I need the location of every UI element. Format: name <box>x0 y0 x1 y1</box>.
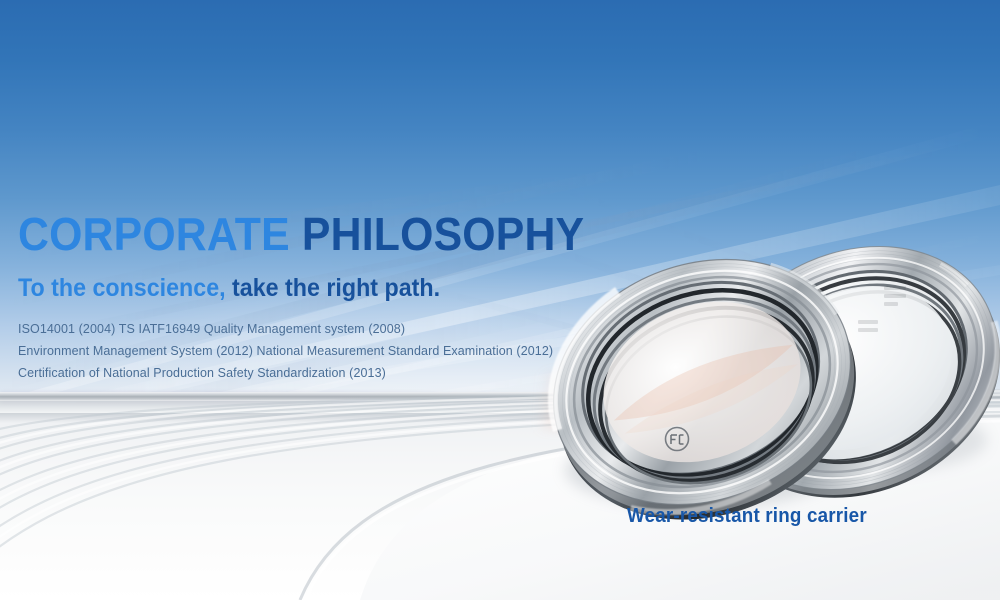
product-caption: Wear-resistant ring carrier <box>627 505 867 528</box>
title-word-corporate: CORPORATE <box>18 208 302 260</box>
subtitle-part-one: To the conscience, <box>18 274 232 302</box>
headline-copy-block: CORPORATE PHILOSOPHY To the conscience, … <box>18 210 618 384</box>
title-word-philosophy: PHILOSOPHY <box>302 208 584 260</box>
page-subtitle: To the conscience, take the right path. <box>18 258 576 302</box>
subtitle-part-two: take the right path. <box>232 274 440 302</box>
certification-line: Environment Management System (2012) Nat… <box>18 340 618 362</box>
certifications-list: ISO14001 (2004) TS IATF16949 Quality Man… <box>18 302 618 384</box>
certification-line: ISO14001 (2004) TS IATF16949 Quality Man… <box>18 318 618 340</box>
certification-line: Certification of National Production Saf… <box>18 362 618 384</box>
corporate-philosophy-banner: CORPORATE PHILOSOPHY To the conscience, … <box>0 0 1000 600</box>
page-title: CORPORATE PHILOSOPHY <box>18 210 576 258</box>
